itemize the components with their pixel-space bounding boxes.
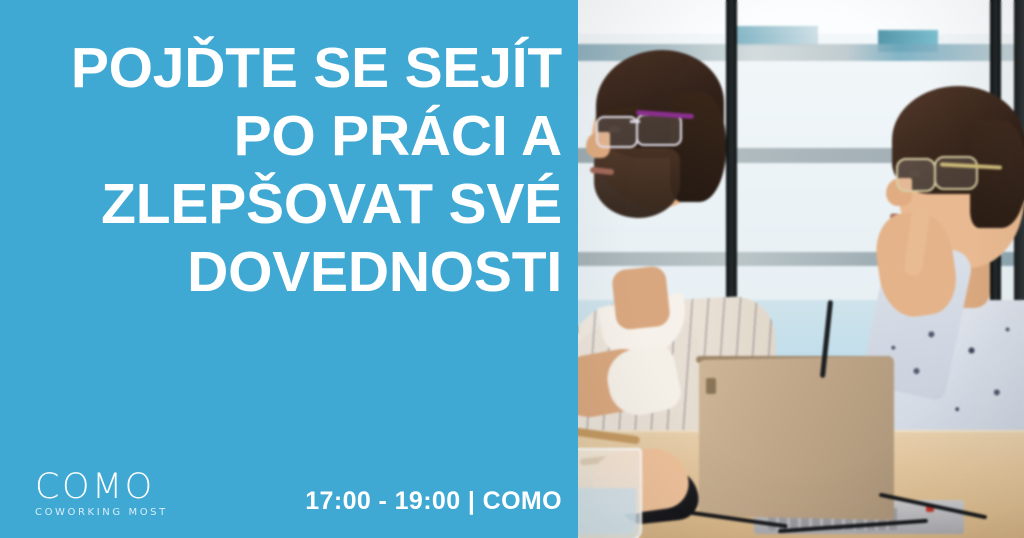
man-right-glasses-lens-front xyxy=(896,158,936,192)
logo-wordmark: COMO xyxy=(35,470,168,504)
headline-line-4: DOVEDNOSTI xyxy=(42,238,562,306)
man-left-glasses-bridge xyxy=(630,120,640,123)
man-left-beard xyxy=(594,148,680,218)
water-level xyxy=(578,488,636,534)
como-logo: COMO COWORKING MOST xyxy=(35,470,168,520)
headline-line-3: ZLEPŠOVAT SVÉ xyxy=(42,170,562,238)
man-left-neck xyxy=(611,265,671,330)
blue-text-panel: POJĎTE SE SEJÍT PO PRÁCI A ZLEPŠOVAT SVÉ… xyxy=(0,0,578,538)
event-time-location: 17:00 - 19:00 | COMO xyxy=(305,487,562,516)
headline: POJĎTE SE SEJÍT PO PRÁCI A ZLEPŠOVAT SVÉ… xyxy=(42,34,562,306)
laptop-brand-logo xyxy=(706,378,716,394)
glass-pane-teal-left xyxy=(728,26,818,46)
logo-tagline: COWORKING MOST xyxy=(35,506,168,520)
man-left-glasses-lens-back xyxy=(636,114,682,146)
man-right-hair-side xyxy=(970,120,1024,228)
event-poster: POJĎTE SE SEJÍT PO PRÁCI A ZLEPŠOVAT SVÉ… xyxy=(0,0,1024,538)
headline-line-1: POJĎTE SE SEJÍT xyxy=(42,34,562,102)
laptop-lid xyxy=(699,356,894,520)
event-photo xyxy=(578,0,1024,538)
headline-line-2: PO PRÁCI A xyxy=(42,102,562,170)
man-right-glasses-lens-back xyxy=(934,156,978,190)
